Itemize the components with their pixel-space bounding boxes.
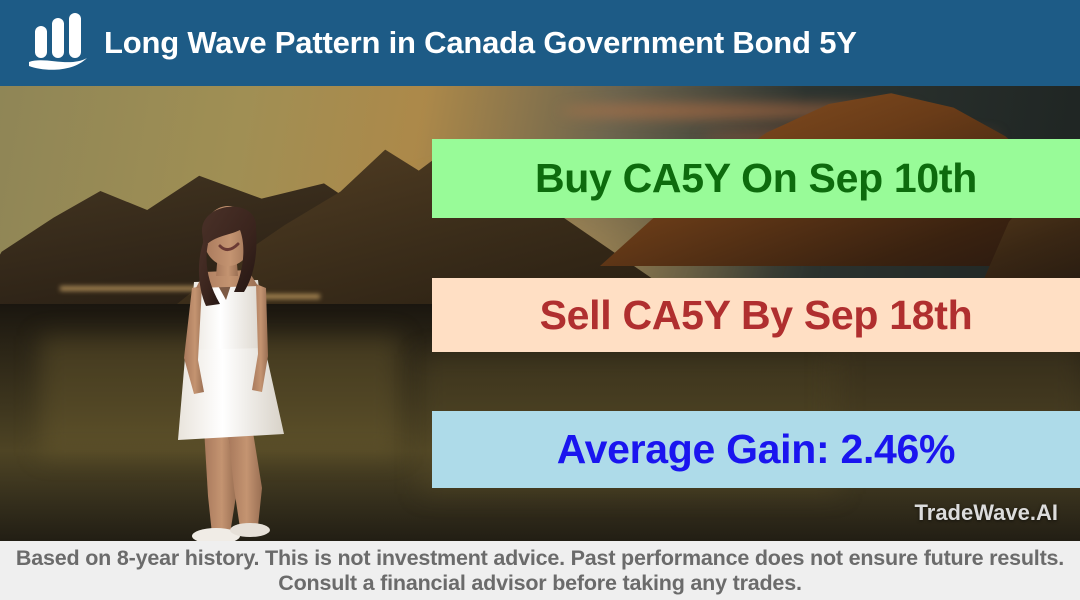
- average-gain-box: Average Gain: 2.46%: [432, 411, 1080, 488]
- sell-signal-text: Sell CA5Y By Sep 18th: [540, 292, 973, 339]
- buy-signal-text: Buy CA5Y On Sep 10th: [535, 155, 977, 202]
- sell-signal-box: Sell CA5Y By Sep 18th: [432, 278, 1080, 352]
- header-bar: Long Wave Pattern in Canada Government B…: [0, 0, 1080, 86]
- buy-signal-box: Buy CA5Y On Sep 10th: [432, 139, 1080, 218]
- wave-bars-logo-svg: [25, 12, 91, 74]
- page-title: Long Wave Pattern in Canada Government B…: [104, 25, 857, 61]
- disclaimer-bar: Based on 8-year history. This is not inv…: [0, 541, 1080, 600]
- promo-poster: Long Wave Pattern in Canada Government B…: [0, 0, 1080, 600]
- disclaimer-text: Based on 8-year history. This is not inv…: [0, 546, 1080, 594]
- wave-bars-logo-icon: [14, 8, 102, 78]
- woman-in-white-dress: [108, 196, 338, 541]
- brand-watermark: TradeWave.AI: [915, 500, 1058, 526]
- average-gain-text: Average Gain: 2.46%: [557, 426, 955, 473]
